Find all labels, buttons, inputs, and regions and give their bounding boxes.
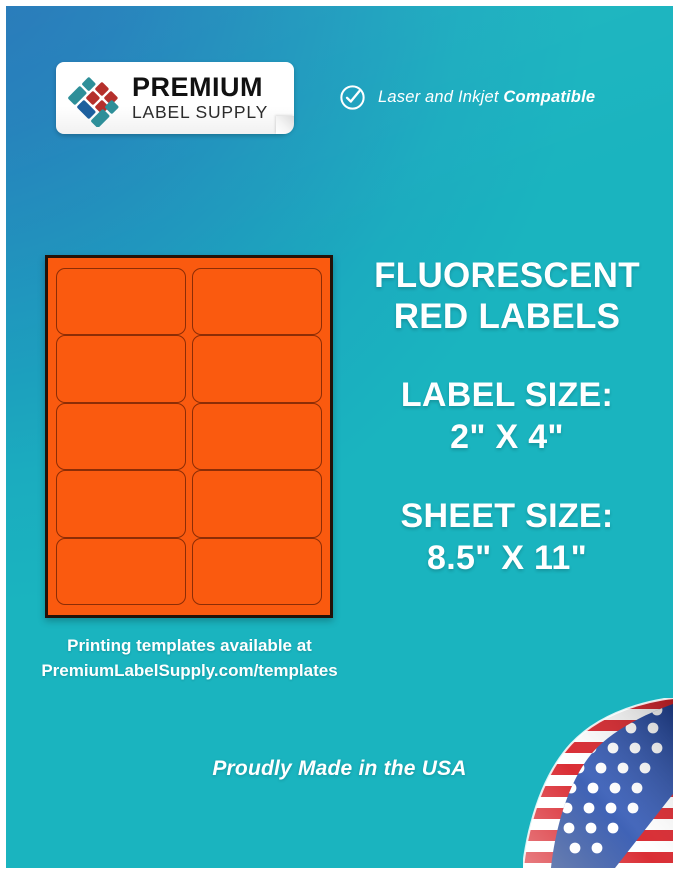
product-name-line2: RED LABELS (352, 297, 662, 338)
sheet-size-heading: SHEET SIZE: (352, 496, 662, 537)
templates-note-line1: Printing templates available at (22, 634, 357, 659)
label-sheet-illustration (45, 255, 333, 618)
check-circle-icon (339, 84, 366, 111)
label-cell (192, 538, 322, 605)
compatibility-text-regular: Laser and Inkjet (378, 88, 503, 106)
logo-primary-text: PREMIUM (132, 74, 268, 102)
label-cell (192, 403, 322, 470)
label-size-block: LABEL SIZE: 2" X 4" (352, 375, 662, 458)
made-in-usa-regular: Proudly Made in the (212, 757, 421, 780)
compatibility-badge: Laser and Inkjet Compatible (339, 84, 595, 111)
brand-logo-wordmark: PREMIUM LABEL SUPPLY (132, 74, 268, 122)
product-specs: FLUORESCENT RED LABELS LABEL SIZE: 2" X … (352, 256, 662, 580)
compatibility-label: Laser and Inkjet Compatible (378, 88, 595, 107)
templates-note-url: PremiumLabelSupply.com/templates (22, 659, 357, 684)
label-size-value: 2" X 4" (352, 416, 662, 459)
label-cell (192, 268, 322, 335)
label-cell (56, 403, 186, 470)
sheet-size-block: SHEET SIZE: 8.5" X 11" (352, 496, 662, 579)
sheet-size-value: 8.5" X 11" (352, 537, 662, 580)
label-cell (192, 470, 322, 537)
label-cell (192, 335, 322, 402)
templates-note: Printing templates available at PremiumL… (22, 634, 357, 683)
compatibility-text-bold: Compatible (503, 88, 595, 106)
label-cell (56, 470, 186, 537)
product-name-line1: FLUORESCENT (352, 256, 662, 297)
brand-logo-card: PREMIUM LABEL SUPPLY (56, 62, 294, 134)
label-cell (56, 335, 186, 402)
made-in-usa-bold: USA (422, 757, 467, 780)
usa-flag-peel-corner (523, 698, 673, 868)
product-image: PREMIUM LABEL SUPPLY Laser and Inkjet Co… (0, 0, 679, 874)
logo-secondary-text: LABEL SUPPLY (132, 103, 268, 122)
label-cell (56, 538, 186, 605)
label-grid (56, 268, 322, 605)
diamond-grid-logo-icon (68, 69, 126, 127)
usa-flag-icon (523, 698, 673, 868)
label-cell (56, 268, 186, 335)
label-size-heading: LABEL SIZE: (352, 375, 662, 416)
